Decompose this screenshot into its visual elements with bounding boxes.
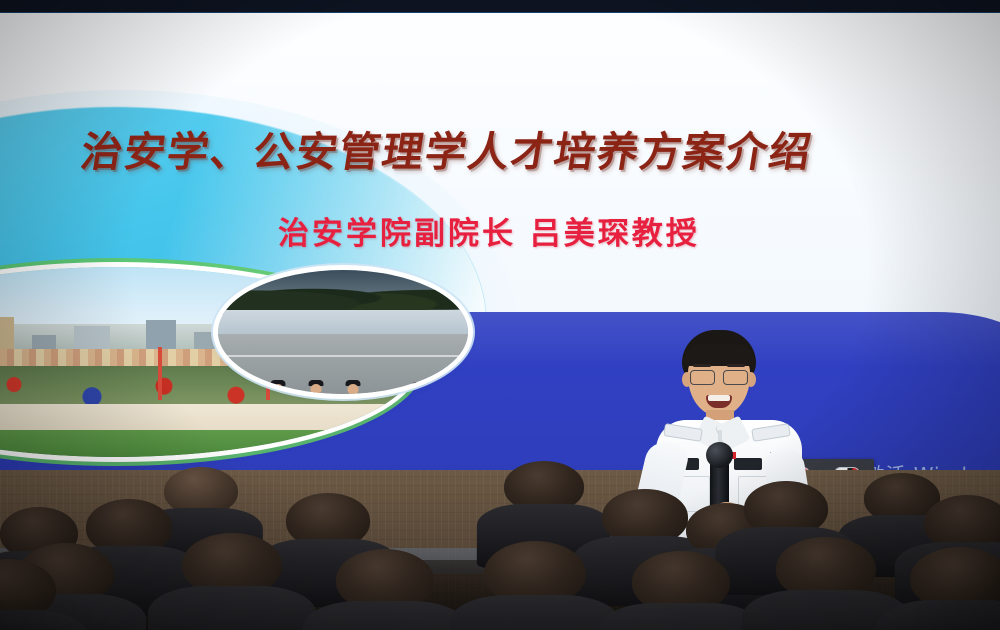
audience-member xyxy=(910,547,1000,630)
lecture-hall-photo: 治安学、公安管理学人才培养方案介绍 治安学院副院长 吕美琛教授 激活 Windo… xyxy=(0,0,1000,630)
police-marching-photo xyxy=(218,270,468,394)
audience-member xyxy=(336,549,434,630)
projection-screen: 治安学、公安管理学人才培养方案介绍 治安学院副院长 吕美琛教授 激活 Windo… xyxy=(0,12,1000,482)
audience xyxy=(0,455,1000,630)
presentation-slide: 治安学、公安管理学人才培养方案介绍 治安学院副院长 吕美琛教授 激活 Windo… xyxy=(0,12,1000,482)
photo-road-line xyxy=(218,355,468,357)
presenter-fringe xyxy=(684,344,754,366)
photo-road xyxy=(218,334,468,394)
police-marching-photo-content xyxy=(218,270,468,394)
audience-member xyxy=(776,537,876,630)
slide-title: 治安学、公安管理学人才培养方案介绍 xyxy=(77,118,927,178)
presenter-brow-left xyxy=(693,364,711,367)
audience-member xyxy=(182,533,282,630)
presenter-brow-right xyxy=(727,364,745,367)
audience-member xyxy=(632,551,730,630)
audience-member xyxy=(484,541,586,630)
glasses-icon xyxy=(689,370,749,384)
photo-backdrop-wall xyxy=(218,310,468,337)
audience-member xyxy=(504,461,584,543)
slide-subtitle: 治安学院副院长 吕美琛教授 xyxy=(278,208,958,253)
audience-member xyxy=(0,559,56,630)
presenter-teeth xyxy=(708,395,730,401)
photo-lawn xyxy=(0,430,416,457)
